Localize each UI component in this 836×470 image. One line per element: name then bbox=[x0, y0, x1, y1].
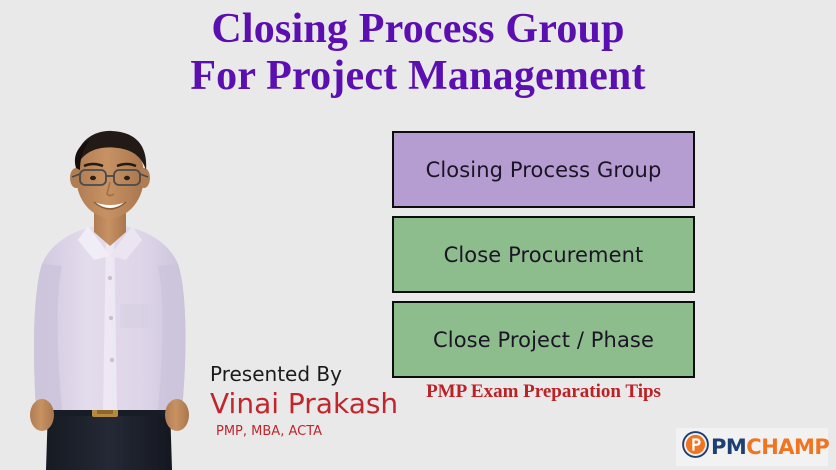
presenter-name: Vinai Prakash bbox=[210, 387, 400, 420]
presenter-credentials: PMP, MBA, ACTA bbox=[216, 423, 400, 440]
process-group-list: Closing Process Group Close Procurement … bbox=[392, 131, 695, 378]
pmchamp-logo-text: PMCHAMP bbox=[711, 437, 829, 458]
presenter-block: Presented By Vinai Prakash PMP, MBA, ACT… bbox=[210, 362, 400, 440]
process-box-close-project-phase[interactable]: Close Project / Phase bbox=[392, 301, 695, 378]
page-title: Closing Process Group For Project Manage… bbox=[0, 6, 836, 100]
pmchamp-logo[interactable]: PMCHAMP bbox=[676, 428, 828, 466]
process-box-closing-process-group[interactable]: Closing Process Group bbox=[392, 131, 695, 208]
process-box-label: Close Procurement bbox=[444, 243, 644, 267]
presenter-photo-illustration bbox=[22, 128, 200, 470]
presenter-photo bbox=[22, 128, 200, 470]
pmchamp-logo-mark-icon bbox=[682, 431, 709, 463]
slide-canvas: Closing Process Group For Project Manage… bbox=[0, 0, 836, 470]
tagline-text: PMP Exam Preparation Tips bbox=[392, 381, 695, 403]
presented-by-label: Presented By bbox=[210, 362, 400, 386]
process-box-close-procurement[interactable]: Close Procurement bbox=[392, 216, 695, 293]
title-line-2: For Project Management bbox=[0, 53, 836, 100]
process-box-label: Close Project / Phase bbox=[433, 328, 654, 352]
logo-text-champ: CHAMP bbox=[746, 435, 829, 459]
box-spacer bbox=[392, 293, 695, 301]
box-spacer bbox=[392, 208, 695, 216]
process-box-label: Closing Process Group bbox=[426, 158, 662, 182]
title-line-1: Closing Process Group bbox=[0, 6, 836, 53]
logo-text-pm: PM bbox=[711, 435, 746, 459]
